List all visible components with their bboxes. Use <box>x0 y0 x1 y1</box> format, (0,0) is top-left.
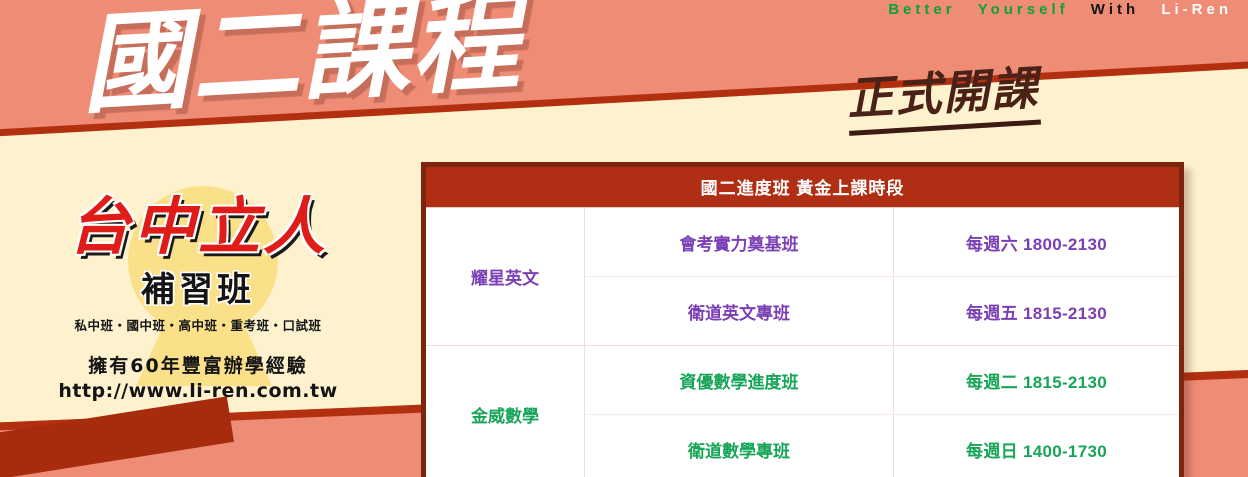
schedule-table: 耀星英文會考實力奠基班每週六 1800-2130衛道英文專班每週五 1815-2… <box>426 208 1179 477</box>
course-cell: 資優數學進度班 <box>585 346 894 415</box>
tagline-word-with: With <box>1091 1 1139 18</box>
table-row: 耀星英文會考實力奠基班每週六 1800-2130 <box>426 208 1179 277</box>
logo-website-url[interactable]: http://www.li-ren.com.tw <box>28 380 368 402</box>
time-cell: 每週五 1815-2130 <box>894 277 1180 346</box>
course-promo-banner: Better Yourself With Li-Ren 國二課程 正式開課 台中… <box>0 0 1248 477</box>
table-row: 金威數學資優數學進度班每週二 1815-2130 <box>426 346 1179 415</box>
time-cell: 每週二 1815-2130 <box>894 346 1180 415</box>
time-cell: 每週日 1400-1730 <box>894 415 1180 477</box>
time-cell: 每週六 1800-2130 <box>894 208 1180 277</box>
brand-tagline: Better Yourself With Li-Ren <box>888 1 1232 18</box>
course-cell: 衛道英文專班 <box>585 277 894 346</box>
logo-experience-text: 擁有60年豐富辦學經驗 <box>28 351 368 378</box>
logo-brand-type: 補習班 <box>28 262 368 311</box>
subject-cell: 耀星英文 <box>426 208 585 346</box>
page-title: 國二課程 <box>78 0 524 123</box>
page-subtitle: 正式開課 <box>845 52 1041 136</box>
logo-class-list: 私中班・國中班・高中班・重考班・口試班 <box>28 315 368 334</box>
headline-group: 國二課程 <box>78 0 524 123</box>
logo: 台中立人 補習班 私中班・國中班・高中班・重考班・口試班 擁有60年豐富辦學經驗… <box>28 196 368 402</box>
course-cell: 衛道數學專班 <box>585 415 894 477</box>
schedule-card: 國二進度班 黃金上課時段 耀星英文會考實力奠基班每週六 1800-2130衛道英… <box>421 162 1184 477</box>
subject-cell: 金威數學 <box>426 346 585 477</box>
tagline-word-liren: Li-Ren <box>1161 1 1232 18</box>
tagline-word-yourself: Yourself <box>978 1 1069 18</box>
course-cell: 會考實力奠基班 <box>585 208 894 277</box>
schedule-title: 國二進度班 黃金上課時段 <box>426 167 1179 208</box>
logo-brand-name: 台中立人 <box>28 196 368 258</box>
subheadline-group: 正式開課 <box>845 52 1041 136</box>
schedule-table-body: 耀星英文會考實力奠基班每週六 1800-2130衛道英文專班每週五 1815-2… <box>426 208 1179 477</box>
tagline-word-better: Better <box>888 1 955 18</box>
